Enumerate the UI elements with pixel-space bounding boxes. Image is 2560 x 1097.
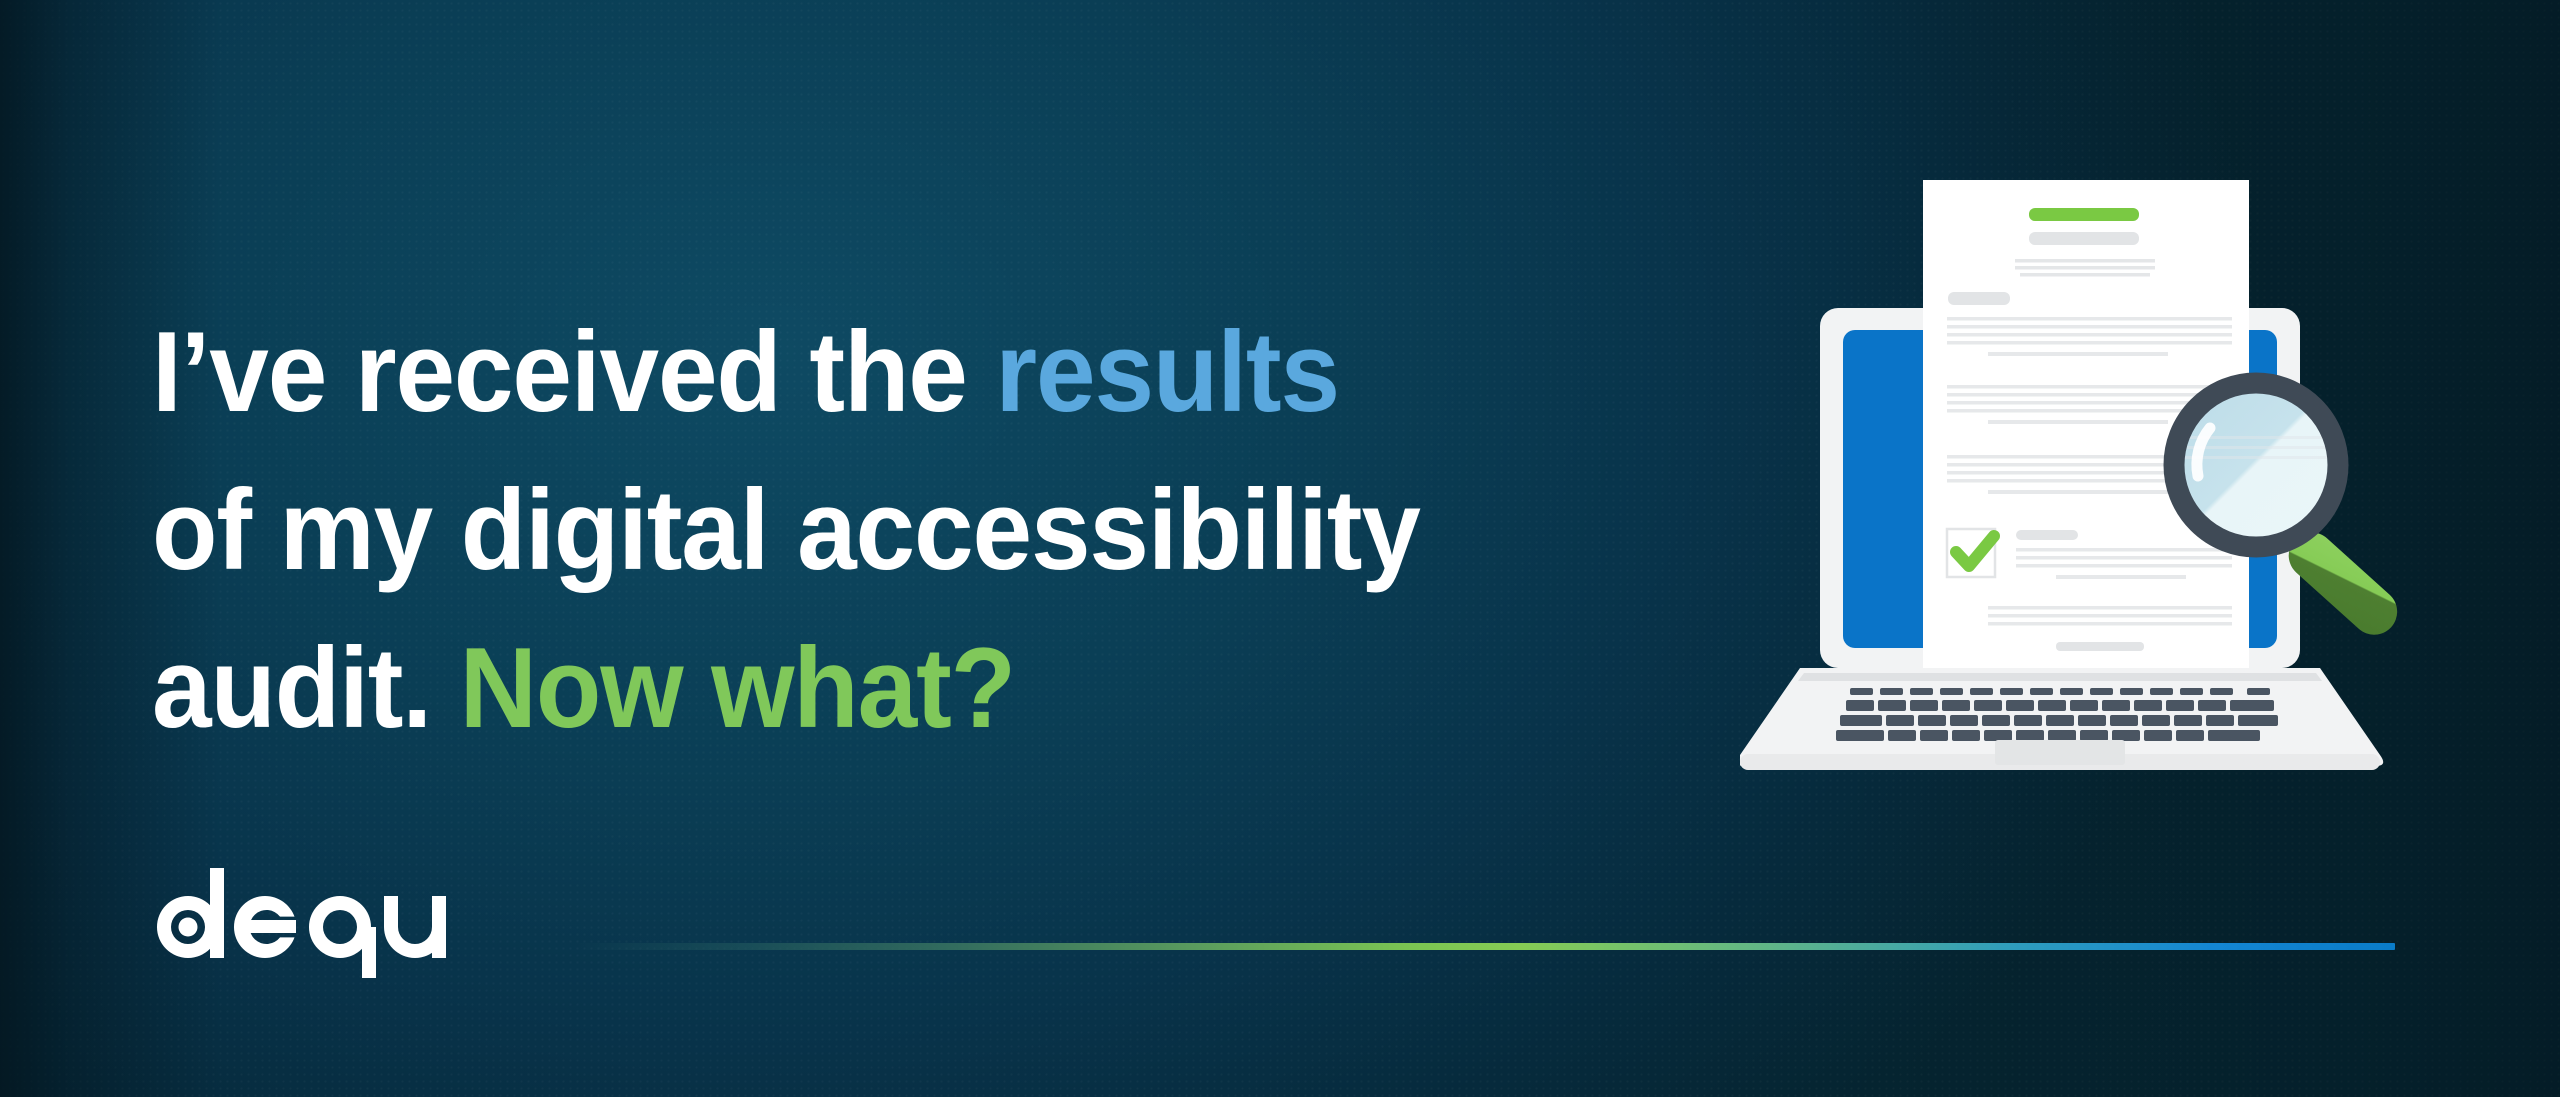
deque-logo-mark: [148, 868, 448, 978]
headline-line-2: of my digital accessibility: [152, 452, 1581, 610]
headline: I’ve received the results of my digital …: [152, 294, 1581, 768]
document-heading-bar: [2029, 208, 2139, 221]
laptop-base: [1740, 668, 2383, 770]
headline-highlight-now-what: Now what?: [460, 625, 1015, 752]
deque-logo[interactable]: deque: [148, 868, 448, 978]
gradient-divider: [575, 943, 2395, 950]
promo-banner: I’ve received the results of my digital …: [0, 0, 2560, 1097]
headline-line-3: audit. Now what?: [152, 610, 1581, 768]
headline-line-1: I’ve received the results: [152, 294, 1581, 452]
headline-line-1-text: I’ve received the: [152, 309, 995, 436]
headline-highlight-results: results: [995, 309, 1339, 436]
headline-line-3-text: audit.: [152, 625, 460, 752]
laptop-trackpad: [1995, 740, 2125, 765]
illustration-laptop-audit: [1740, 140, 2440, 800]
